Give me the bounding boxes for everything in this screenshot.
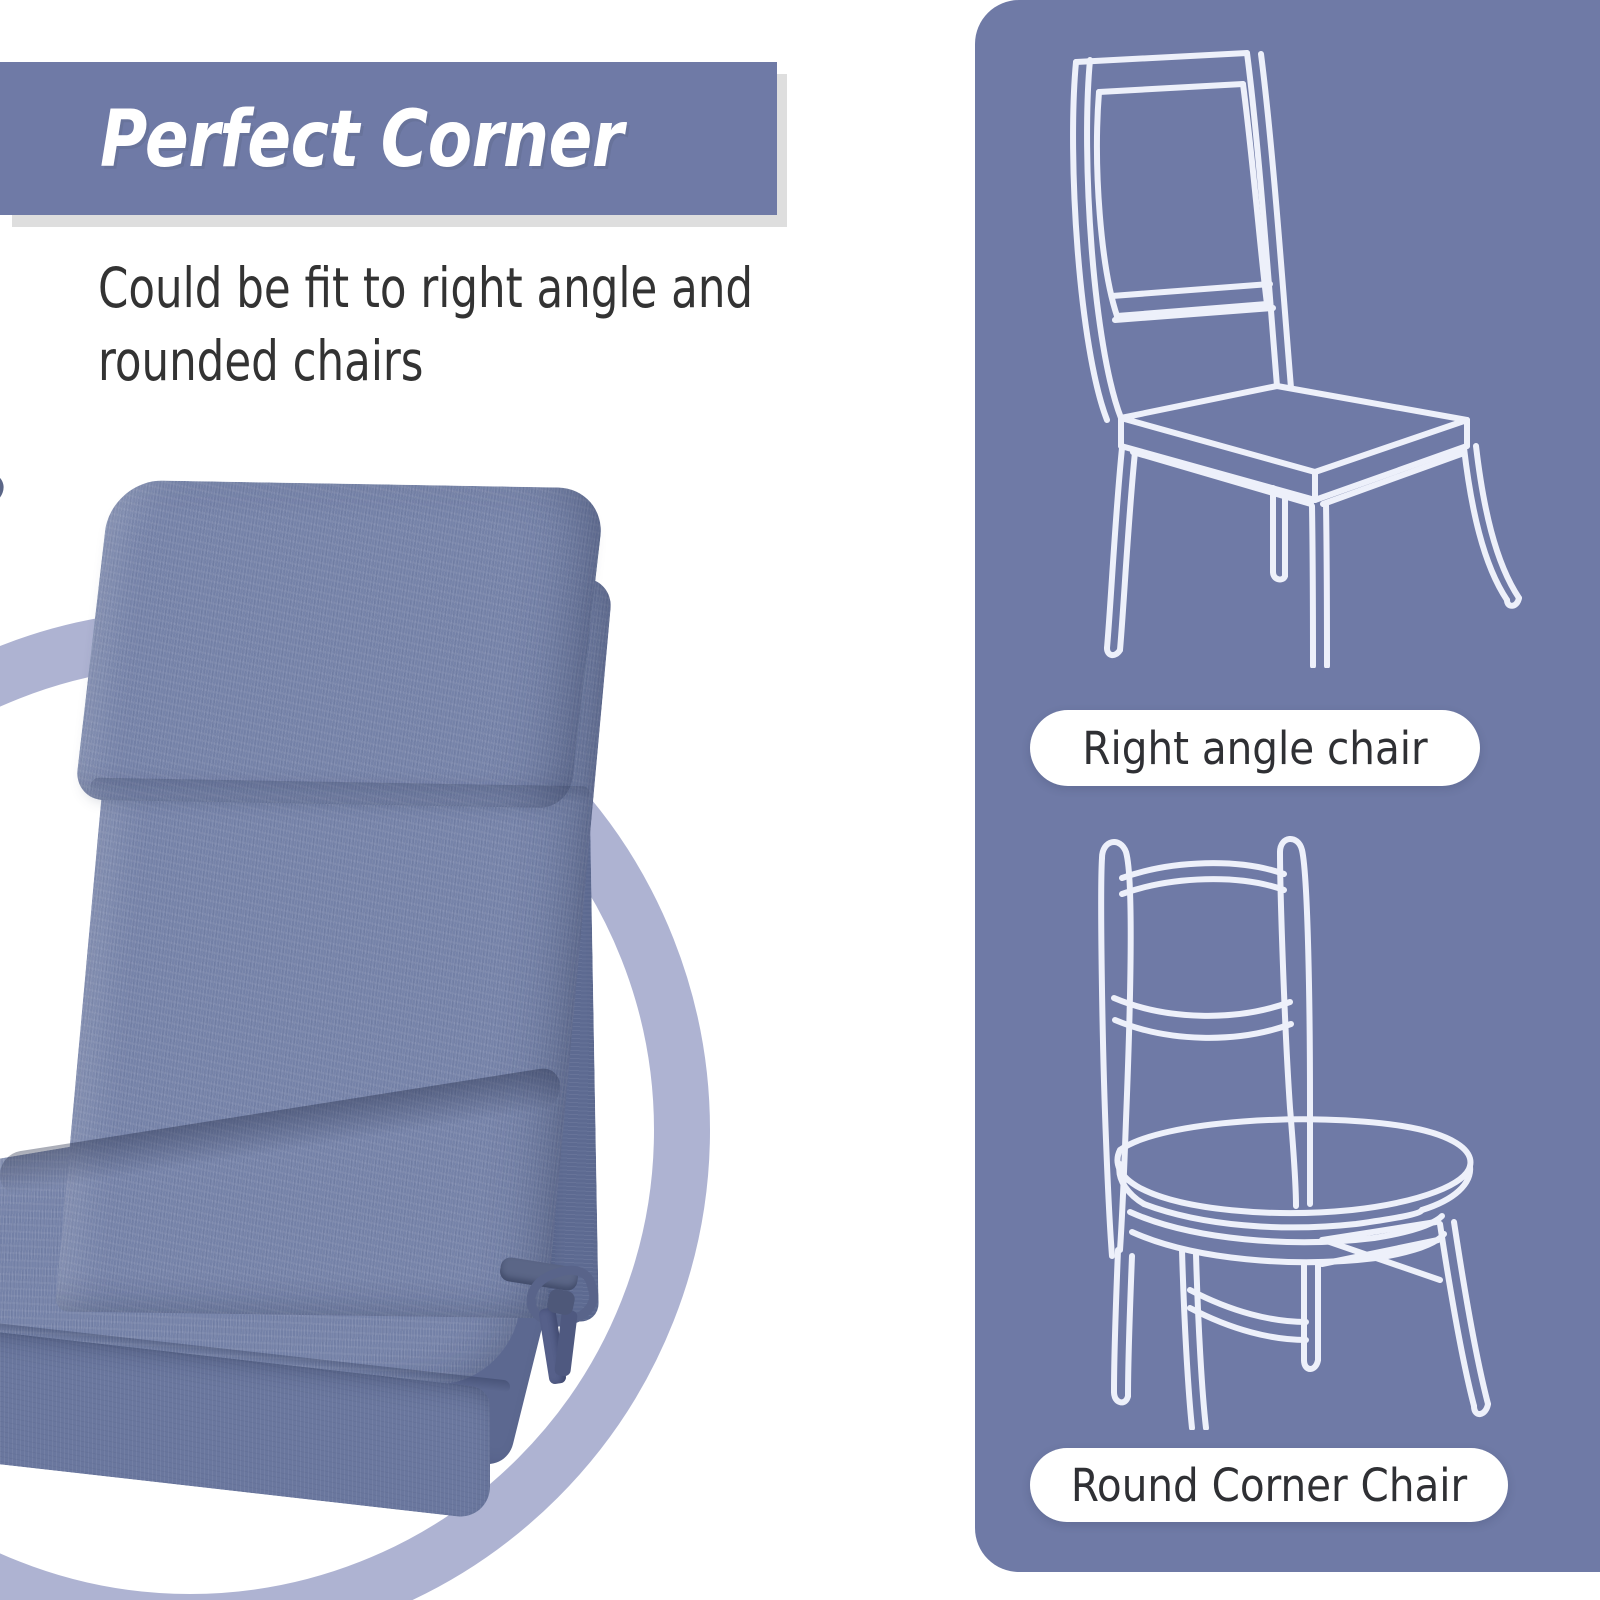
- label-round-corner-chair[interactable]: Round Corner Chair: [1030, 1448, 1508, 1522]
- right-angle-chair-line-drawing: [1015, 48, 1560, 668]
- round-corner-chair-line-drawing: [1022, 820, 1552, 1430]
- product-cushion-image: [0, 470, 700, 1480]
- label-right-angle-chair[interactable]: Right angle chair: [1030, 710, 1480, 786]
- headrest-pillow: [74, 480, 606, 809]
- page-subtitle: Could be fit to right angle and rounded …: [98, 252, 837, 398]
- page-title: Perfect Corner: [100, 95, 623, 185]
- label-round-corner-chair-text: Round Corner Chair: [1071, 1459, 1467, 1512]
- tie-loop-left: [0, 464, 8, 518]
- infographic-canvas: Perfect Corner Could be fit to right ang…: [0, 0, 1600, 1600]
- label-right-angle-chair-text: Right angle chair: [1082, 722, 1427, 775]
